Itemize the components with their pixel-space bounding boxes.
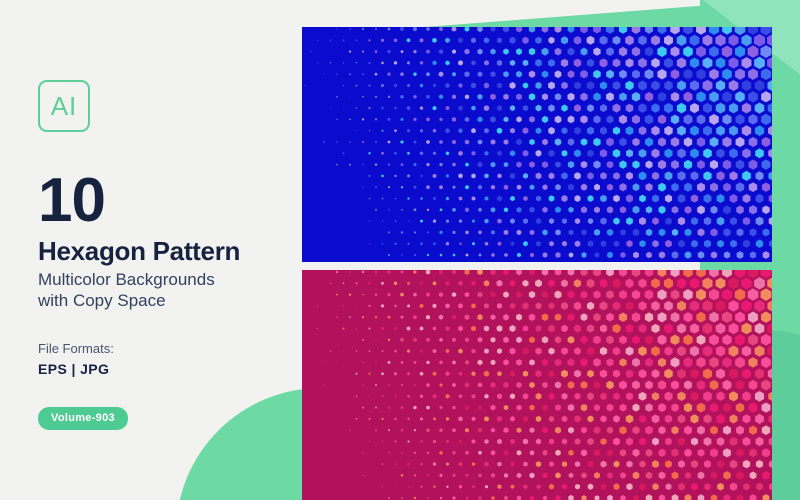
pattern-count: 10	[38, 172, 288, 231]
adobe-illustrator-icon: AI	[38, 80, 90, 132]
poster-canvas: AI 10 Hexagon Pattern Multicolor Backgro…	[0, 0, 800, 500]
pink-hexagon-pattern	[302, 270, 772, 500]
green-top-band-shape	[398, 0, 800, 28]
file-formats-value: EPS | JPG	[38, 361, 288, 377]
ai-badge-label: AI	[51, 93, 78, 119]
page-subtitle: Multicolor Backgrounds with Copy Space	[38, 269, 288, 311]
blue-hexagon-pattern	[302, 27, 772, 262]
subtitle-line-2: with Copy Space	[38, 290, 288, 311]
info-column: AI 10 Hexagon Pattern Multicolor Backgro…	[38, 80, 288, 430]
subtitle-line-1: Multicolor Backgrounds	[38, 269, 288, 290]
volume-badge: Volume-903	[38, 407, 128, 430]
pink-hexagon-preview	[302, 270, 772, 500]
file-formats-label: File Formats:	[38, 339, 288, 359]
blue-hexagon-preview	[302, 27, 772, 262]
file-formats-block: File Formats: EPS | JPG	[38, 339, 288, 377]
page-title: Hexagon Pattern	[38, 237, 288, 266]
